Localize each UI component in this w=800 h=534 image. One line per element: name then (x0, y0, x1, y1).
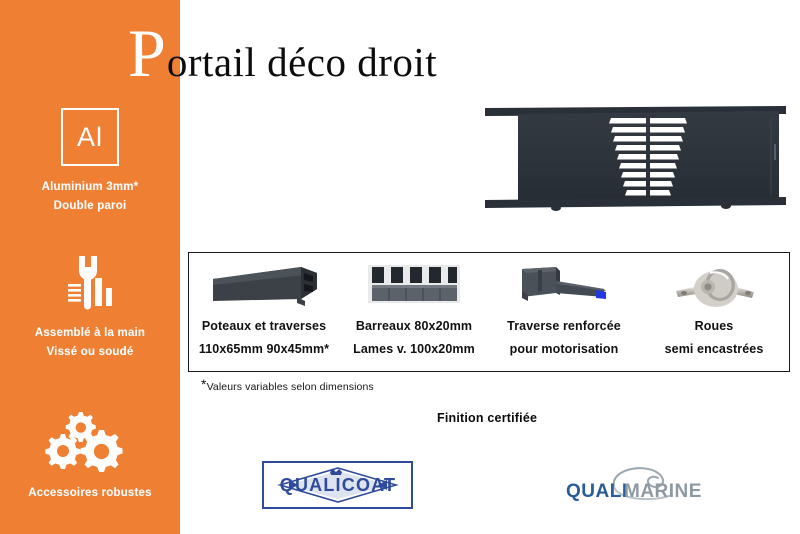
sidebar-feature-aluminium-line1: Aluminium 3mm* (0, 178, 180, 197)
spec-card-posts: Poteaux et traverses 110x65mm 90x45mm* (189, 253, 339, 371)
page-title: P ortail déco droit (128, 22, 437, 84)
wrench-assembly-icon (0, 252, 180, 314)
footnote: *Valeurs variables selon dimensions (201, 381, 374, 393)
spec-card-rail-line2: pour motorisation (510, 342, 619, 356)
footnote-text: Valeurs variables selon dimensions (207, 381, 374, 393)
spec-card-slats-line1: Barreaux 80x20mm (356, 319, 472, 333)
sidebar-feature-assembly-line2: Vissé ou soudé (0, 343, 180, 362)
sidebar-feature-aluminium: Al Aluminium 3mm* Double paroi (0, 108, 180, 216)
post-profile-icon (205, 260, 323, 310)
page-title-initial: P (128, 22, 166, 84)
gate-illustration (483, 104, 788, 219)
wheel-icon (664, 260, 764, 310)
sidebar-feature-assembly: Assemblé à la main Vissé ou soudé (0, 252, 180, 362)
svg-text:QUALI: QUALI (566, 481, 628, 502)
spec-card-rail-line1: Traverse renforcée (507, 319, 621, 333)
gears-icon (0, 410, 180, 476)
spec-card-rail: Traverse renforcée pour motorisation (489, 253, 639, 371)
qualimarine-logo: QUALI MARINE (562, 465, 712, 509)
page-title-text: ortail déco droit (167, 37, 437, 87)
spec-card-wheel: Roues semi encastrées (639, 253, 789, 371)
product-spec-panel: Poteaux et traverses 110x65mm 90x45mm* (188, 252, 790, 372)
sidebar-feature-accessories-line1: Accessoires robustes (0, 484, 180, 503)
sidebar-feature-aluminium-line2: Double paroi (0, 197, 180, 216)
spec-card-wheel-line1: Roues (695, 319, 734, 333)
reinforced-rail-icon (508, 260, 620, 310)
spec-card-slats: Barreaux 80x20mm Lames v. 100x20mm (339, 253, 489, 371)
sidebar-feature-accessories: Accessoires robustes (0, 410, 180, 503)
svg-text:MARINE: MARINE (624, 481, 702, 502)
spec-card-posts-line1: Poteaux et traverses (202, 319, 326, 333)
certification-heading: Finition certifiée (437, 411, 537, 425)
aluminium-box-icon: Al (61, 108, 119, 166)
sidebar-feature-assembly-line1: Assemblé à la main (0, 324, 180, 343)
footnote-asterisk: * (201, 376, 207, 392)
spec-card-posts-line2: 110x65mm 90x45mm* (199, 342, 329, 356)
qualicoat-logo: QUALICOAT (262, 461, 413, 509)
slats-icon (364, 260, 464, 310)
aluminium-symbol: Al (77, 124, 103, 151)
poster-root: Al Aluminium 3mm* Double paroi (0, 0, 800, 534)
spec-card-wheel-line2: semi encastrées (665, 342, 764, 356)
spec-card-slats-line2: Lames v. 100x20mm (353, 342, 475, 356)
